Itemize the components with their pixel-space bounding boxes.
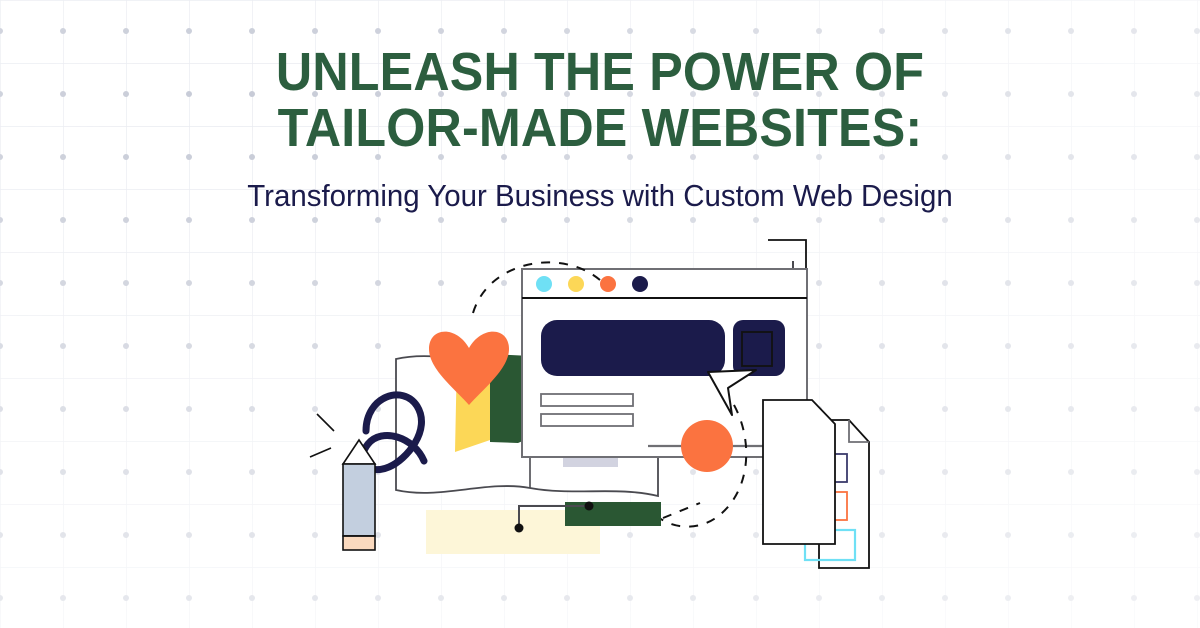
- headline-line-1: UNLEASH THE POWER OF: [42, 44, 1158, 100]
- connector-dot-left: [515, 524, 524, 533]
- custom-web-design-illustration: [0, 228, 1200, 608]
- heading-block: UNLEASH THE POWER OF TAILOR-MADE WEBSITE…: [0, 44, 1200, 214]
- browser-dot-cyan[interactable]: [536, 276, 552, 292]
- pencil-shape: [343, 440, 375, 550]
- browser-dot-yellow[interactable]: [568, 276, 584, 292]
- browser-dot-navy[interactable]: [632, 276, 648, 292]
- circle-accent: [681, 420, 733, 472]
- dashed-tail-right: [663, 503, 700, 518]
- text-line-1: [541, 394, 633, 406]
- side-block: [733, 320, 785, 376]
- page-title: UNLEASH THE POWER OF TAILOR-MADE WEBSITE…: [42, 44, 1158, 156]
- headline-line-2: TAILOR-MADE WEBSITES:: [42, 100, 1158, 156]
- browser-dot-orange[interactable]: [600, 276, 616, 292]
- poster-canvas: UNLEASH THE POWER OF TAILOR-MADE WEBSITE…: [0, 0, 1200, 628]
- sparkle-lines: [310, 414, 334, 457]
- hero-block: [541, 320, 725, 376]
- document-page-front: [763, 400, 835, 544]
- text-line-2: [541, 414, 633, 426]
- page-subtitle: Transforming Your Business with Custom W…: [30, 178, 1170, 214]
- connector-dot-right: [585, 502, 594, 511]
